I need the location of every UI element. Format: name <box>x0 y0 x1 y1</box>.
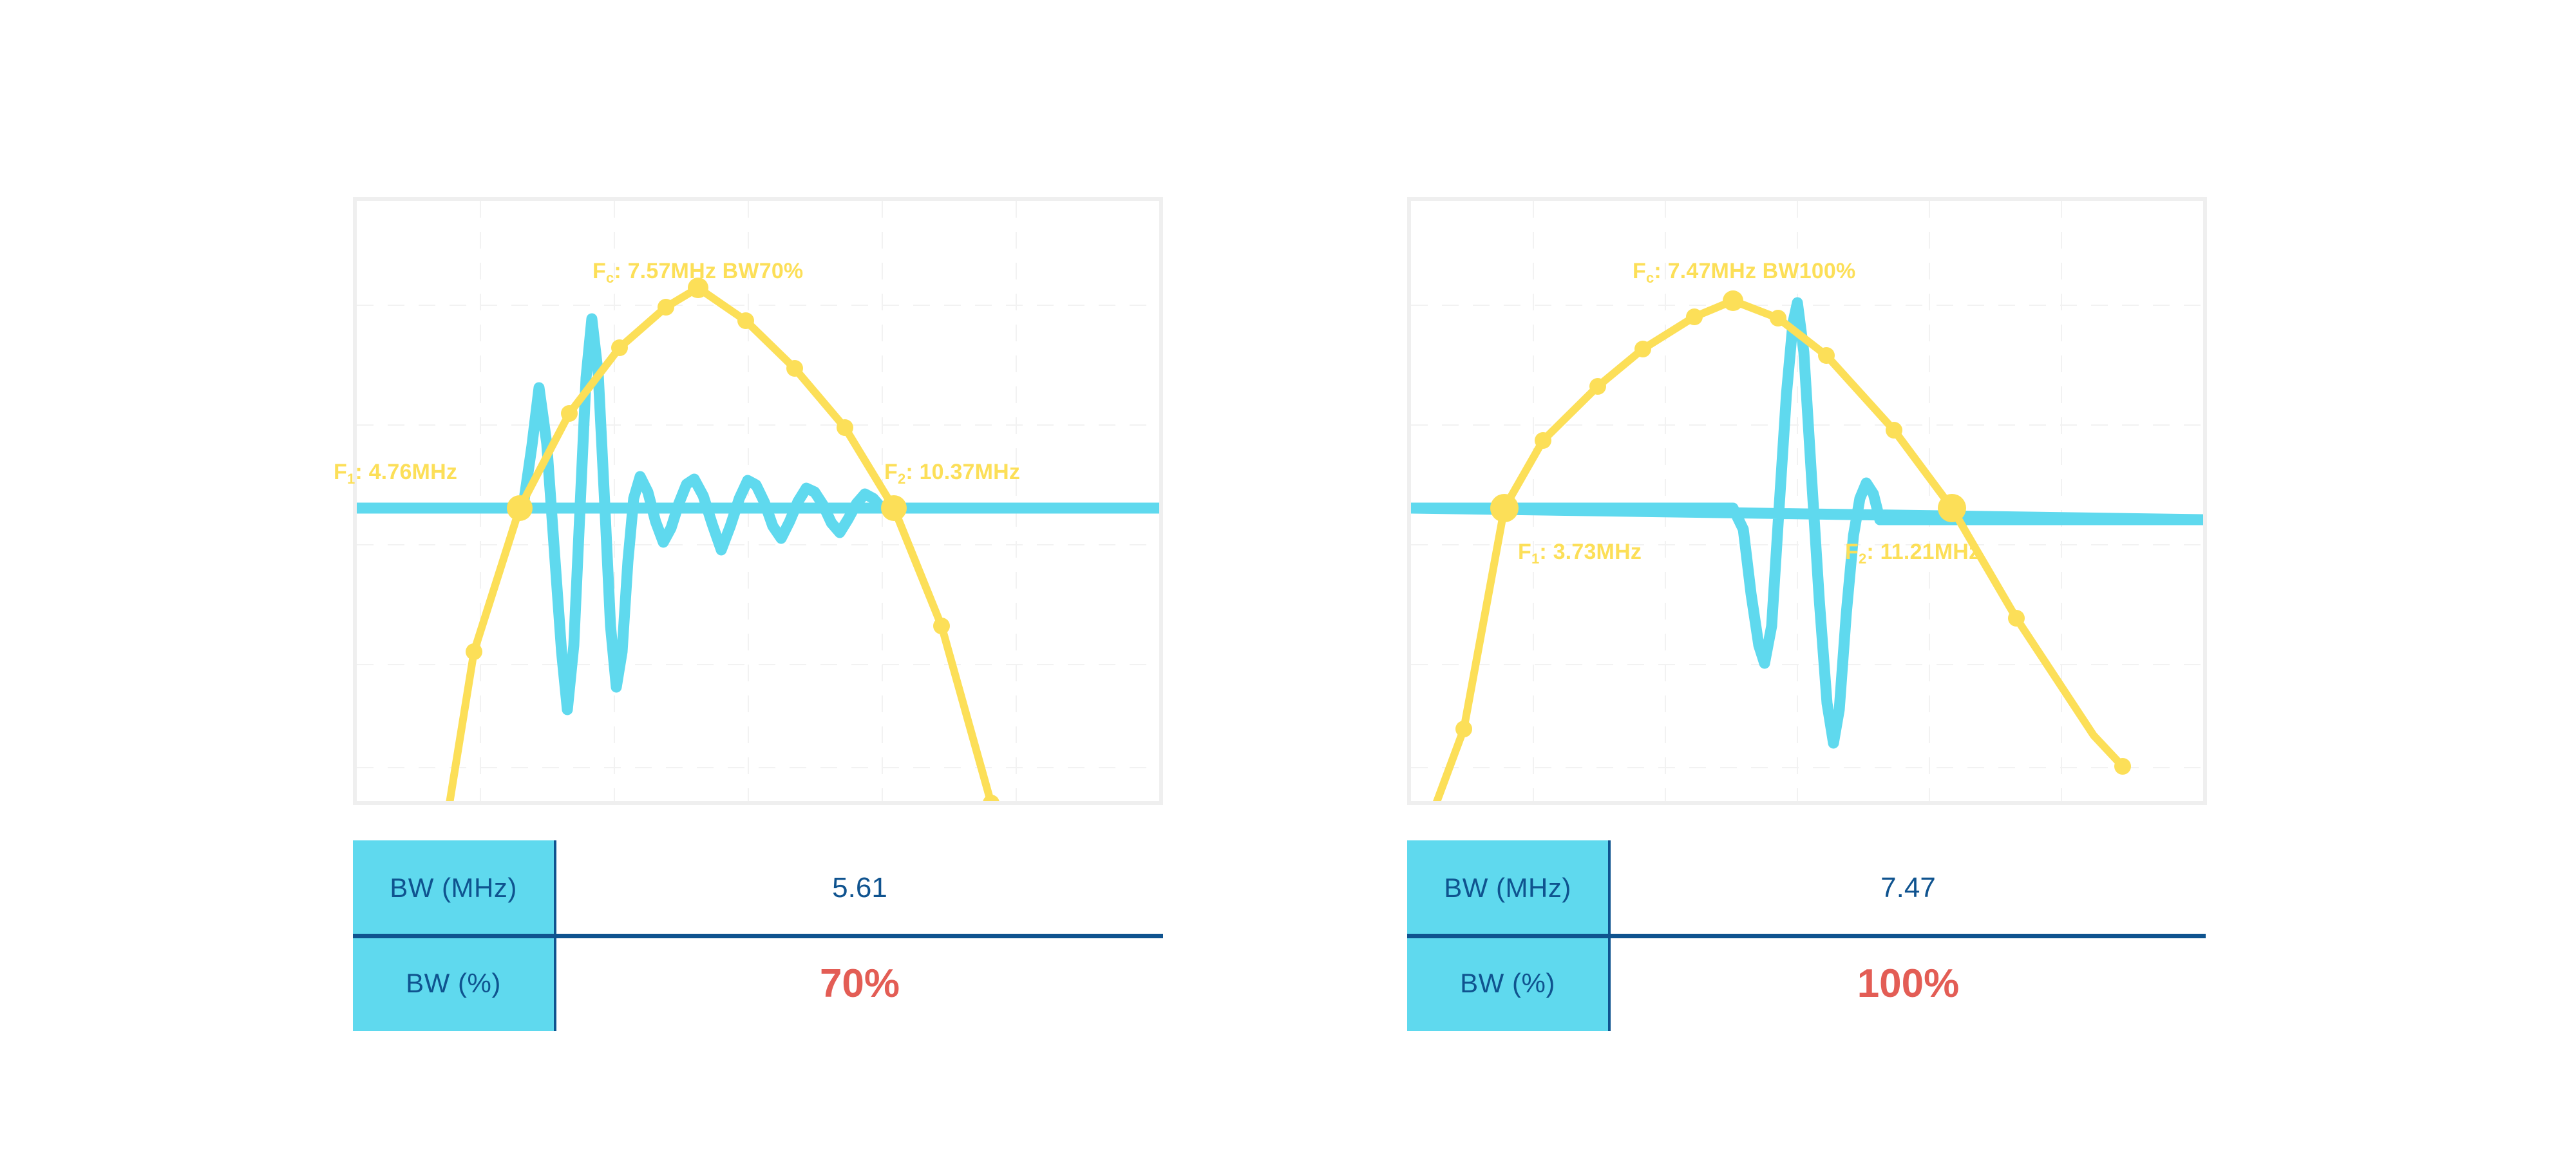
annotation-fc-prefix-right: F <box>1633 259 1646 283</box>
plot-canvas-right <box>1411 201 2203 801</box>
table-row-label: BW (MHz) <box>1407 840 1608 936</box>
table-middle-rule-left <box>353 934 1163 938</box>
annotation-fc-text-left: : 7.57MHz BW70% <box>614 259 803 283</box>
table-middle-rule-right <box>1407 934 2206 938</box>
table-row: BW (%) 100% <box>1407 936 2206 1031</box>
table-row: BW (MHz) 7.47 <box>1407 840 2206 936</box>
panel-left: Fc: 7.57MHz BW70% F1: 4.76MHz F2: 10.37M… <box>0 0 1288 1154</box>
annotation-f1-right: F1: 3.73MHz <box>1518 540 1642 565</box>
table-row-value-cell: 5.61 <box>556 840 1163 936</box>
table-row-value-cell: 100% <box>1611 936 2206 1031</box>
annotation-f1-prefix-left: F <box>334 460 347 484</box>
table-row-value: 7.47 <box>1880 872 1936 904</box>
annotation-f1-prefix-right: F <box>1518 540 1531 564</box>
annotation-fc-left: Fc: 7.57MHz BW70% <box>592 259 803 284</box>
table-row: BW (MHz) 5.61 <box>353 840 1163 936</box>
measurement-table-left: BW (MHz) 5.61 BW (%) 70% <box>353 840 1163 1031</box>
chart-right: Fc: 7.47MHz BW100% F1: 3.73MHz F2: 11.21… <box>1407 197 2207 805</box>
annotation-f2-text-left: : 10.37MHz <box>905 460 1020 484</box>
annotation-f2-left: F2: 10.37MHz <box>884 460 1020 485</box>
table-row-label: BW (MHz) <box>353 840 554 936</box>
annotation-fc-sub-right: c <box>1646 270 1654 286</box>
table-row-value-cell: 70% <box>556 936 1163 1031</box>
annotation-fc-right: Fc: 7.47MHz BW100% <box>1633 259 1855 284</box>
table-row-value: 100% <box>1857 961 1960 1007</box>
table-row-label: BW (%) <box>353 936 554 1031</box>
grid-lines-right <box>1411 201 2203 801</box>
chart-left: Fc: 7.57MHz BW70% F1: 4.76MHz F2: 10.37M… <box>353 197 1163 805</box>
annotation-f1-sub-right: 1 <box>1531 551 1539 567</box>
annotation-f1-sub-left: 1 <box>347 471 355 487</box>
annotation-fc-text-right: : 7.47MHz BW100% <box>1654 259 1855 283</box>
table-row: BW (%) 70% <box>353 936 1163 1031</box>
table-row-label: BW (%) <box>1407 936 1608 1031</box>
annotation-fc-prefix-left: F <box>592 259 606 283</box>
table-row-value: 5.61 <box>832 872 887 904</box>
annotation-f2-prefix-left: F <box>884 460 898 484</box>
panel-right: Fc: 7.47MHz BW100% F1: 3.73MHz F2: 11.21… <box>1288 0 2576 1154</box>
plot-canvas-left <box>357 201 1159 801</box>
table-row-value-cell: 7.47 <box>1611 840 2206 936</box>
annotation-f1-text-right: : 3.73MHz <box>1539 540 1642 564</box>
annotation-f2-sub-right: 2 <box>1859 551 1866 567</box>
annotation-f2-text-right: : 11.21MHz <box>1866 540 1980 564</box>
annotation-f2-prefix-right: F <box>1845 540 1859 564</box>
annotation-f2-sub-left: 2 <box>898 471 905 487</box>
annotation-f1-left: F1: 4.76MHz <box>334 460 457 485</box>
table-row-value: 70% <box>820 961 900 1007</box>
measurement-table-right: BW (MHz) 7.47 BW (%) 100% <box>1407 840 2206 1031</box>
annotation-fc-sub-left: c <box>606 270 614 286</box>
waveform-line-right <box>1411 303 2203 743</box>
spectrum-markers-left <box>466 278 999 801</box>
annotation-f2-right: F2: 11.21MHz <box>1845 540 1980 565</box>
annotation-f1-text-left: : 4.76MHz <box>355 460 457 484</box>
